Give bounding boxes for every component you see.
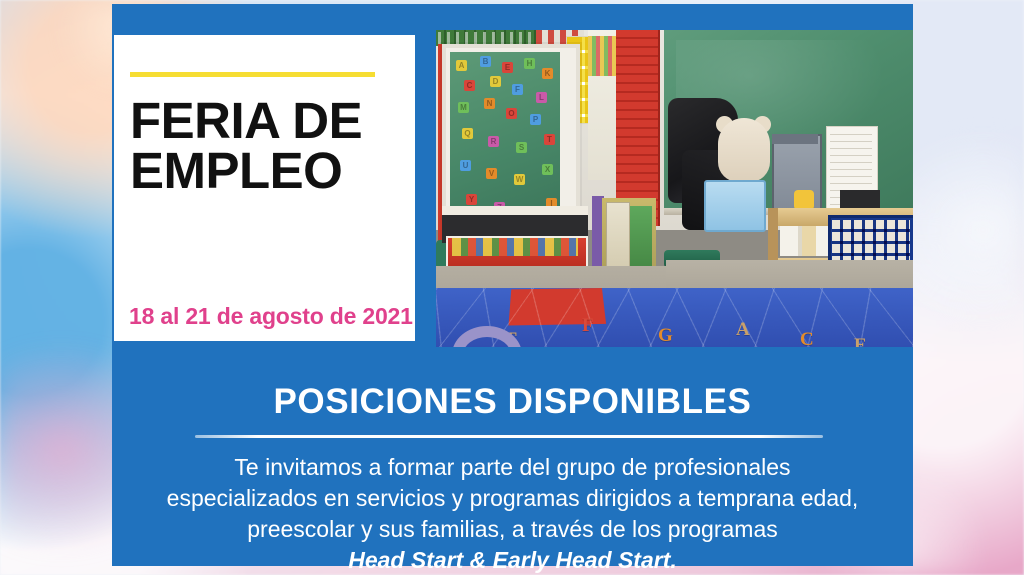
event-date: 18 al 21 de agosto de 2021 [129, 303, 413, 330]
carpet-letter-a: A [736, 320, 750, 339]
title-line-1: FERIA DE [130, 96, 400, 146]
yellow-rule [130, 72, 375, 77]
body-program-names: Head Start & Early Head Start. [112, 545, 913, 575]
section-heading: POSICIONES DISPONIBLES [112, 382, 913, 422]
carpet-letter-c: C [800, 330, 814, 347]
title-line-2: EMPLEO [130, 146, 400, 196]
cart-toys [452, 238, 578, 256]
red-pocket-chart [616, 30, 660, 226]
yellow-cup [794, 190, 814, 210]
carpet-letter-f: F [582, 316, 594, 335]
title-card: FERIA DE EMPLEO 18 al 21 de agosto de 20… [114, 35, 415, 341]
teddy-bear [718, 118, 770, 182]
body-line-1: Te invitamos a formar parte del grupo de… [112, 452, 913, 483]
cart-top-surface [442, 206, 588, 215]
grey-binder-stripe [772, 134, 818, 144]
carpet-letter-e: E [854, 336, 867, 347]
carpet-letter-g: G [658, 326, 673, 345]
white-rule [195, 435, 823, 438]
blue-bin [704, 180, 766, 232]
body-line-2: especializados en servicios y programas … [112, 483, 913, 514]
body-copy: Te invitamos a formar parte del grupo de… [112, 452, 913, 575]
flyer-stage: FERIA DE EMPLEO 18 al 21 de agosto de 20… [0, 0, 1024, 575]
body-line-3: preescolar y sus familias, a través de l… [112, 514, 913, 545]
classroom-photo: A B E H K C D F L M N O P Q R S T U V W … [436, 30, 913, 347]
page-title: FERIA DE EMPLEO [130, 96, 400, 196]
wall-poster-mid-band [588, 36, 618, 76]
